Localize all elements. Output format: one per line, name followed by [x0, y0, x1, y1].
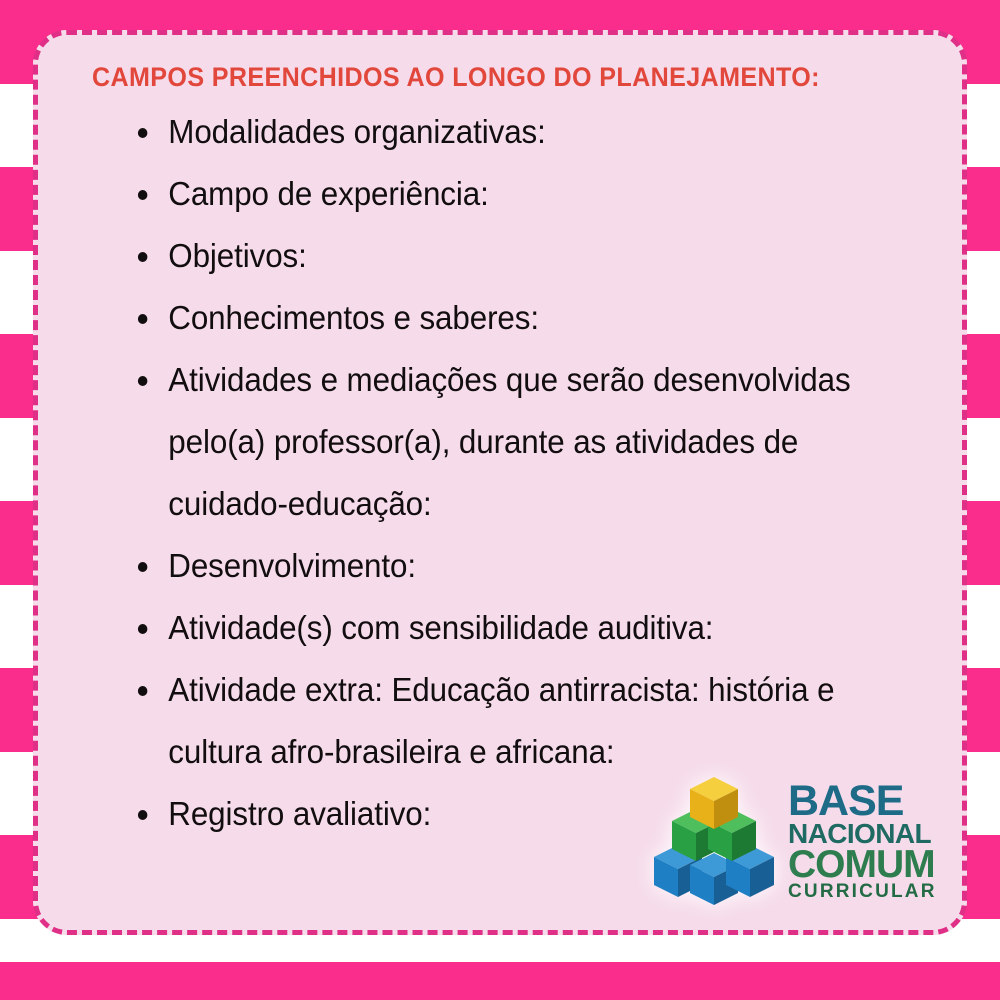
bullet-icon [138, 128, 148, 138]
list-item-label: Conhecimentos e saberes: [168, 299, 539, 336]
list-item: Objetivos: [136, 225, 892, 287]
list-item-label: Campo de experiência: [168, 175, 488, 212]
bottom-pink-band [0, 962, 1000, 1000]
list-item: Campo de experiência: [136, 163, 892, 225]
list-item: Desenvolvimento: [136, 535, 892, 597]
list-item-label: Objetivos: [168, 237, 306, 274]
fields-list: Modalidades organizativas: Campo de expe… [68, 101, 932, 845]
bncc-wordmark: BASE NACIONAL COMUM CURRICULAR [788, 782, 937, 901]
top-pink-band [0, 0, 1000, 30]
bullet-icon [138, 314, 148, 324]
bncc-cubes-icon [648, 775, 780, 907]
list-item-label: Atividade(s) com sensibilidade auditiva: [168, 609, 713, 646]
list-item-label: Atividade extra: Educação antirracista: … [168, 671, 834, 770]
content-card: CAMPOS PREENCHIDOS AO LONGO DO PLANEJAME… [33, 30, 967, 935]
list-item-label: Atividades e mediações que serão desenvo… [168, 361, 850, 522]
page-title: CAMPOS PREENCHIDOS AO LONGO DO PLANEJAME… [92, 63, 873, 93]
bncc-logo: BASE NACIONAL COMUM CURRICULAR [648, 766, 938, 916]
bullet-icon [138, 686, 148, 696]
bncc-base-text: BASE [788, 782, 903, 822]
list-item-label: Registro avaliativo: [168, 795, 431, 832]
bullet-icon [138, 190, 148, 200]
bncc-comum-text: COMUM [788, 847, 935, 883]
list-item-label: Modalidades organizativas: [168, 113, 545, 150]
list-item: Conhecimentos e saberes: [136, 287, 892, 349]
list-item-label: Desenvolvimento: [168, 547, 416, 584]
list-item: Atividade(s) com sensibilidade auditiva: [136, 597, 892, 659]
poster-canvas: CAMPOS PREENCHIDOS AO LONGO DO PLANEJAME… [0, 0, 1000, 1000]
list-item: Modalidades organizativas: [136, 101, 892, 163]
list-item: Atividades e mediações que serão desenvo… [136, 349, 892, 535]
bncc-curricular-text: CURRICULAR [788, 883, 937, 900]
list-item: Atividade extra: Educação antirracista: … [136, 659, 892, 783]
bullet-icon [138, 376, 148, 386]
bullet-icon [138, 624, 148, 634]
bullet-icon [138, 252, 148, 262]
bullet-icon [138, 810, 148, 820]
bullet-icon [138, 562, 148, 572]
